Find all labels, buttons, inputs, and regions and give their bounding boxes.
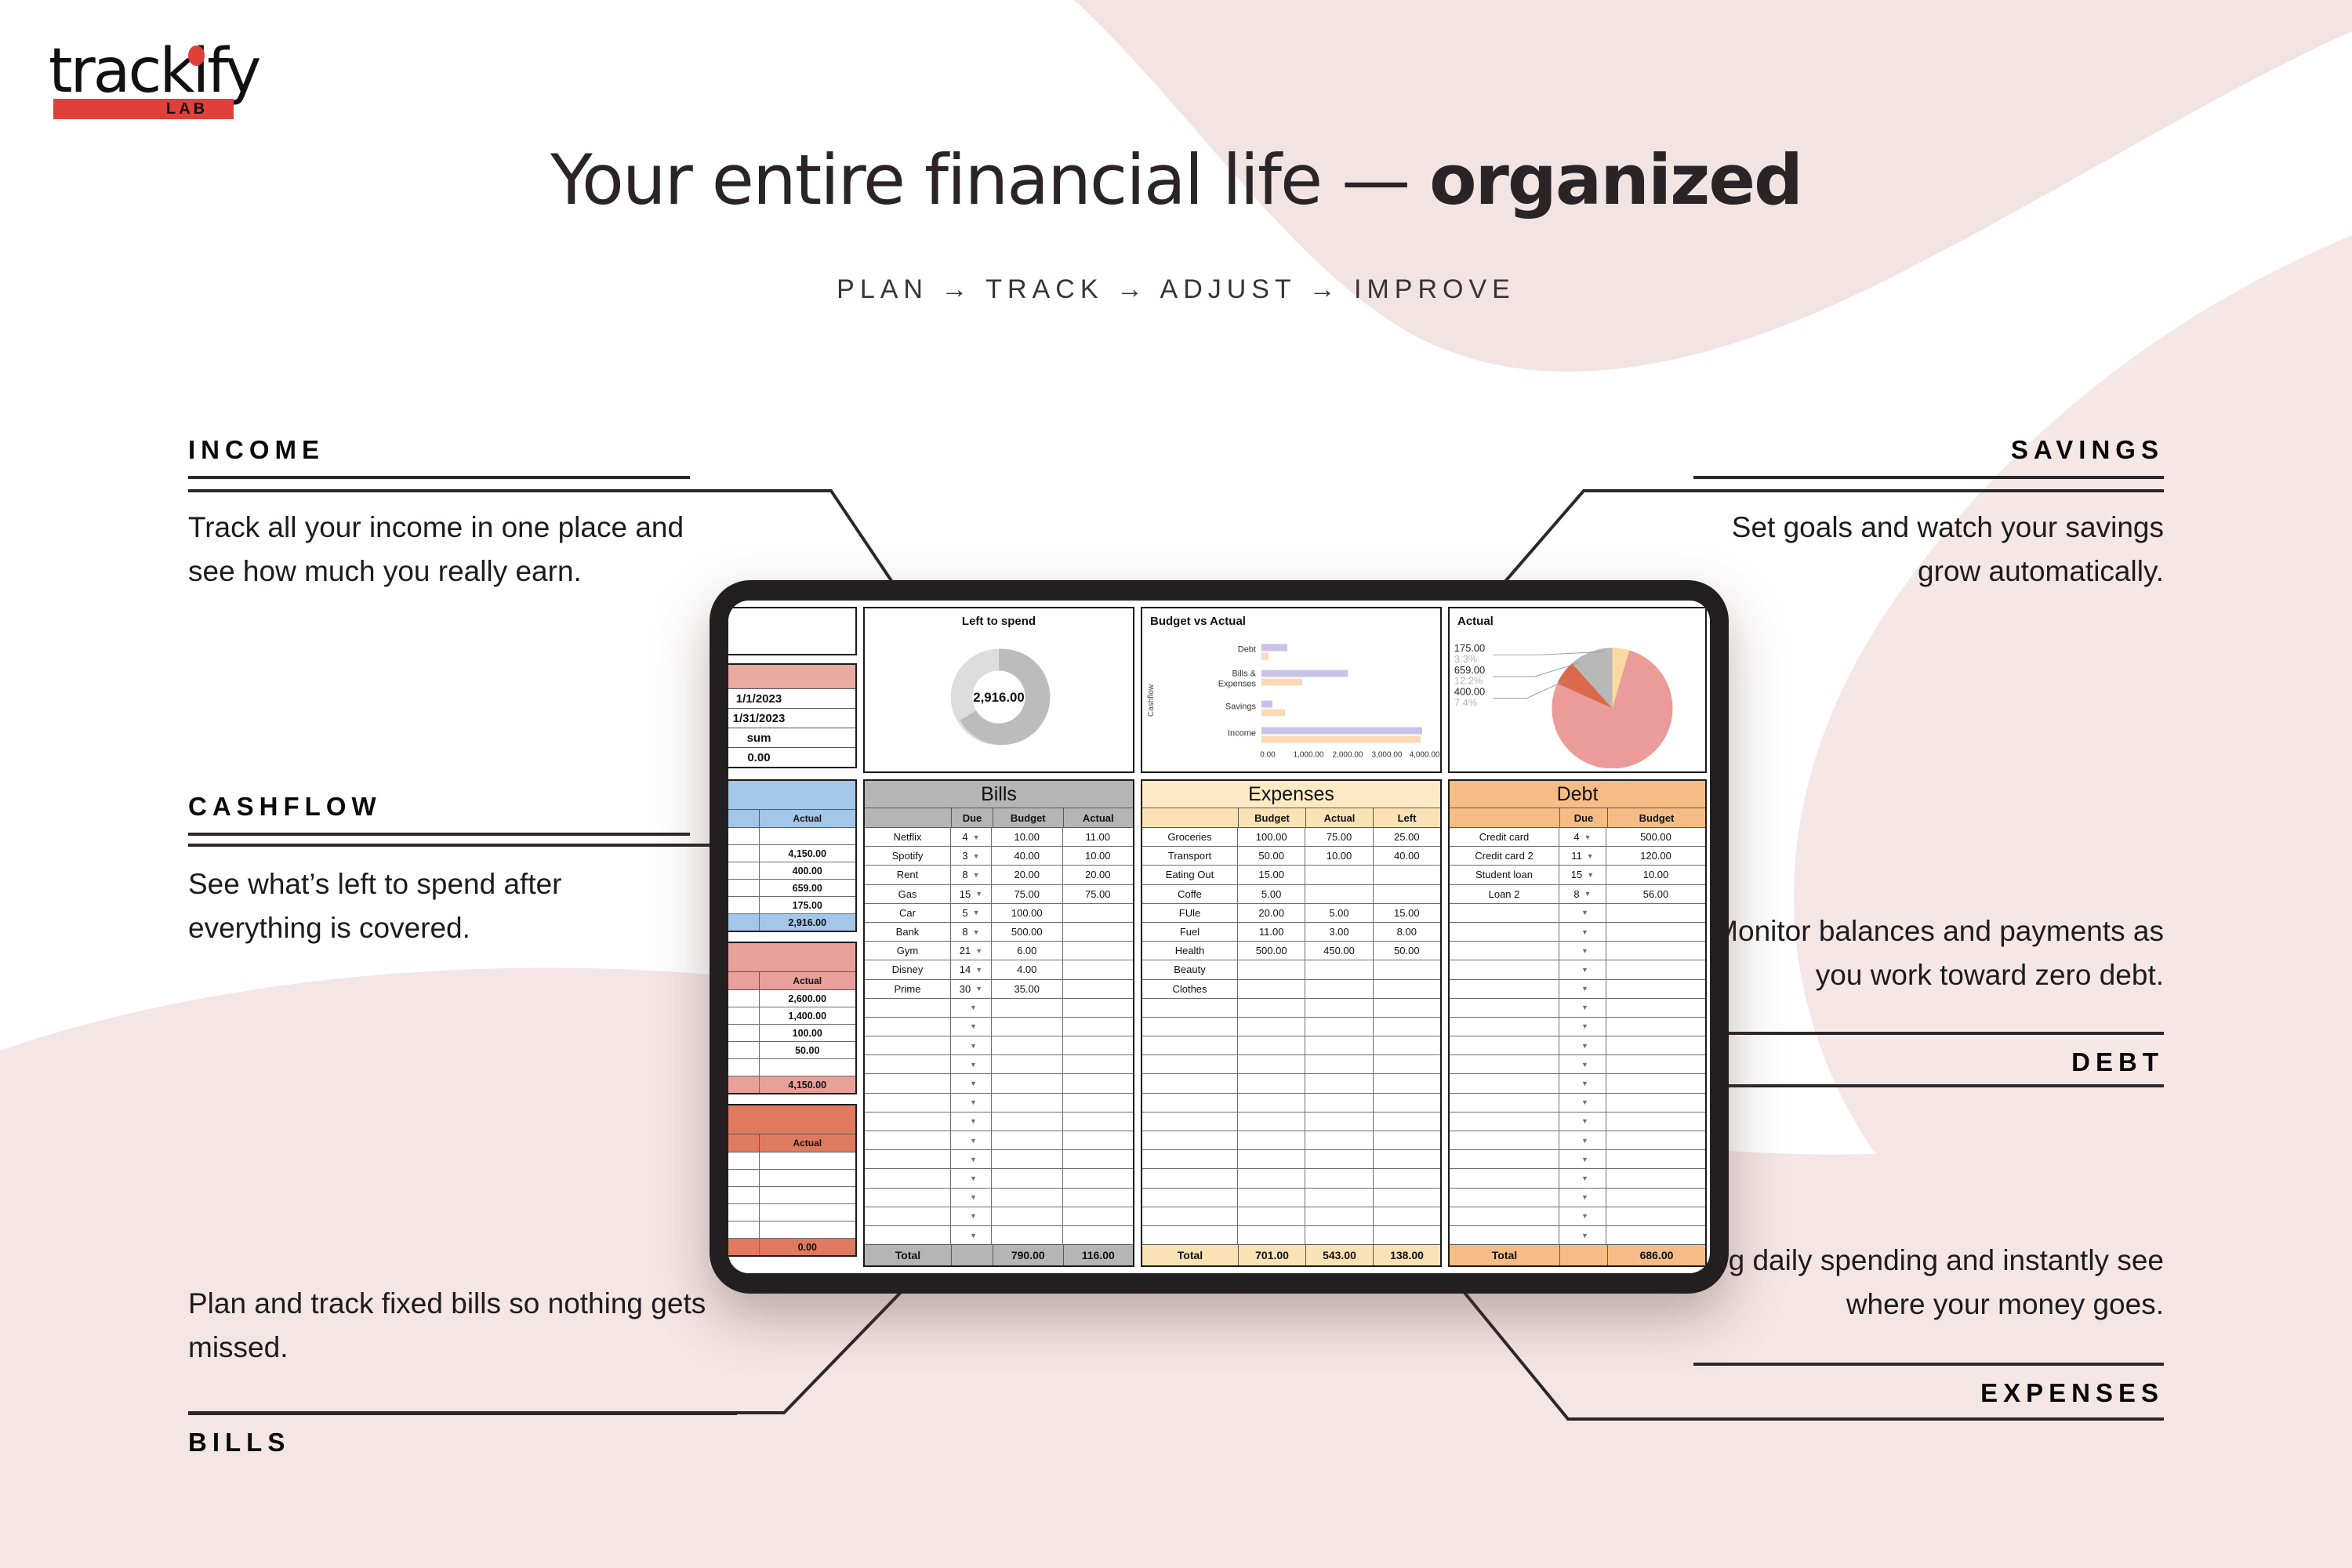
cell[interactable]: .00 (728, 828, 760, 844)
cell[interactable] (992, 999, 1063, 1017)
cell[interactable]: ▼ (1559, 1131, 1606, 1149)
cell[interactable] (1238, 1189, 1305, 1207)
cell[interactable] (865, 1226, 951, 1244)
chevron-down-icon[interactable]: ▼ (1581, 1080, 1588, 1087)
chevron-down-icon[interactable]: ▼ (1584, 833, 1592, 841)
cell[interactable]: 75.00 (1063, 885, 1134, 903)
cell[interactable]: 4.00 (992, 960, 1063, 978)
cell[interactable]: 56.00 (1606, 885, 1705, 903)
table-row[interactable]: ▼ (865, 1094, 1133, 1112)
cell[interactable] (760, 1187, 856, 1203)
table-row[interactable]: ▼ (1450, 1150, 1705, 1169)
table-row[interactable]: Prime30▼35.00 (865, 980, 1133, 999)
cell[interactable] (1305, 1036, 1373, 1054)
cell[interactable] (1450, 942, 1559, 960)
cell[interactable]: 659.00 (760, 880, 856, 896)
chevron-down-icon[interactable]: ▼ (1581, 1212, 1588, 1220)
cell[interactable]: ▼ (1559, 1094, 1606, 1112)
cell[interactable] (865, 1169, 951, 1187)
cell[interactable]: ▼ (951, 1074, 992, 1092)
cell[interactable] (1063, 923, 1134, 941)
chevron-down-icon[interactable]: ▼ (1581, 1193, 1588, 1201)
table-row[interactable]: Spotify3▼40.0010.00 (865, 847, 1133, 866)
cell[interactable] (1238, 980, 1305, 998)
cell[interactable] (1063, 1074, 1134, 1092)
cell[interactable]: Rent (865, 866, 951, 884)
cell[interactable] (1063, 1018, 1134, 1036)
cell[interactable]: 20.00 (1063, 866, 1134, 884)
cell[interactable] (1374, 999, 1440, 1017)
table-row[interactable]: Eating Out15.00 (1142, 866, 1440, 884)
spreadsheet-screen[interactable]: uary rview 1/1/2023 1/31/2023 sum 0.00 L… (728, 601, 1710, 1273)
cell[interactable]: 50.00 (1374, 942, 1440, 960)
cell[interactable] (1238, 1112, 1305, 1131)
cell[interactable]: 5▼ (951, 904, 992, 922)
cell[interactable]: ▼ (1559, 1112, 1606, 1131)
cell[interactable] (1063, 904, 1134, 922)
cell[interactable] (1142, 1207, 1238, 1225)
cell[interactable] (1606, 980, 1705, 998)
cell[interactable] (1238, 1036, 1305, 1054)
cell[interactable] (1374, 1150, 1440, 1168)
cell[interactable] (1238, 1207, 1305, 1225)
cell[interactable] (1606, 960, 1705, 978)
cell[interactable]: ▼ (951, 1189, 992, 1207)
left-to-spend-chart[interactable]: Left to spend 2,916.00 (863, 607, 1134, 773)
table-row[interactable]: ▼ (1450, 1055, 1705, 1074)
cell[interactable]: 500.00 (992, 923, 1063, 941)
chevron-down-icon[interactable]: ▼ (975, 985, 982, 993)
cell[interactable] (1606, 1150, 1705, 1168)
cell[interactable] (1305, 1169, 1373, 1187)
chevron-down-icon[interactable]: ▼ (1581, 947, 1588, 955)
chevron-down-icon[interactable]: ▼ (1581, 1156, 1588, 1163)
cell[interactable] (1374, 1094, 1440, 1112)
cell[interactable] (1305, 960, 1373, 978)
cell[interactable]: Clothes (1142, 980, 1238, 998)
table-row[interactable]: ▼ (865, 1189, 1133, 1207)
cell[interactable] (1142, 1112, 1238, 1131)
cell[interactable] (1374, 1207, 1440, 1225)
table-row[interactable]: Fuel11.003.008.00 (1142, 923, 1440, 942)
chevron-down-icon[interactable]: ▼ (1581, 1174, 1588, 1182)
cell[interactable] (1305, 999, 1373, 1017)
cell[interactable]: Student loan (1450, 866, 1559, 884)
cell[interactable] (1450, 1169, 1559, 1187)
table-row[interactable]: Transport50.0010.0040.00 (1142, 847, 1440, 866)
table-row[interactable]: ▼ (1450, 1094, 1705, 1112)
cell[interactable] (1305, 1189, 1373, 1207)
cell[interactable]: 6.00 (992, 942, 1063, 960)
cell[interactable] (1142, 1189, 1238, 1207)
table-row[interactable]: ▼ (1450, 980, 1705, 999)
chevron-down-icon[interactable]: ▼ (1581, 1117, 1588, 1125)
cell[interactable] (1374, 1036, 1440, 1054)
cell[interactable]: Spotify (865, 847, 951, 865)
chevron-down-icon[interactable]: ▼ (973, 852, 980, 860)
chevron-down-icon[interactable]: ▼ (970, 1137, 977, 1145)
table-row[interactable]: ▼ (865, 1207, 1133, 1226)
cell[interactable] (992, 1226, 1063, 1244)
table-row[interactable]: Credit card4▼500.00 (1450, 828, 1705, 847)
cell[interactable] (1238, 999, 1305, 1017)
table-row[interactable]: ▼ (865, 1074, 1133, 1093)
cell[interactable] (1450, 1226, 1559, 1244)
cell[interactable] (1450, 1074, 1559, 1092)
table-row[interactable]: ▼ (865, 1226, 1133, 1244)
chevron-down-icon[interactable]: ▼ (975, 966, 982, 974)
cell[interactable]: 5.00 (1305, 904, 1373, 922)
cell[interactable]: Health (1142, 942, 1238, 960)
cell[interactable]: ▼ (951, 999, 992, 1017)
table-row[interactable]: ▼ (865, 1018, 1133, 1036)
chevron-down-icon[interactable]: ▼ (1581, 1137, 1588, 1145)
cell[interactable]: 20.00 (992, 866, 1063, 884)
bills-rows-container[interactable]: Netflix4▼10.0011.00Spotify3▼40.0010.00Re… (865, 828, 1133, 1244)
cell[interactable]: 25.00 (1374, 828, 1440, 846)
cell[interactable]: ▼ (1559, 1189, 1606, 1207)
cell[interactable] (1238, 1169, 1305, 1187)
cell[interactable] (760, 1170, 856, 1186)
cell[interactable] (728, 1187, 760, 1203)
cell[interactable] (1606, 1055, 1705, 1073)
cell[interactable] (992, 1055, 1063, 1073)
chevron-down-icon[interactable]: ▼ (973, 909, 980, 916)
cell[interactable]: ▼ (951, 1131, 992, 1149)
cell[interactable]: 14▼ (951, 960, 992, 978)
cell[interactable] (1305, 1055, 1373, 1073)
cell[interactable] (1238, 960, 1305, 978)
cell[interactable] (760, 1059, 856, 1076)
cell[interactable] (1238, 1055, 1305, 1073)
cell[interactable] (992, 1169, 1063, 1187)
cell[interactable] (865, 1150, 951, 1168)
cell[interactable]: ▼ (951, 1226, 992, 1244)
cell[interactable] (1374, 960, 1440, 978)
cell[interactable]: 100.00 (1238, 828, 1305, 846)
actual-pie-chart[interactable]: Actual 175.00 3.3% 659.00 12.2% (1448, 607, 1707, 773)
cell[interactable]: 15▼ (1559, 866, 1606, 884)
chevron-down-icon[interactable]: ▼ (973, 871, 980, 879)
cell[interactable] (865, 1131, 951, 1149)
cell[interactable]: 4▼ (1559, 828, 1606, 846)
overview-table[interactable]: rview 1/1/2023 1/31/2023 sum 0.00 (728, 663, 857, 768)
cell[interactable] (1450, 1207, 1559, 1225)
cell[interactable] (1063, 1189, 1134, 1207)
cell[interactable] (1063, 1036, 1134, 1054)
cell[interactable] (1063, 1055, 1134, 1073)
cell[interactable] (1238, 1226, 1305, 1244)
chevron-down-icon[interactable]: ▼ (1581, 966, 1588, 974)
table-row[interactable]: Health500.00450.0050.00 (1142, 942, 1440, 960)
chevron-down-icon[interactable]: ▼ (970, 1156, 977, 1163)
expenses-table[interactable]: Expenses Budget Actual Left Groceries100… (1141, 779, 1442, 1267)
cell[interactable]: 2,600.00 (760, 990, 856, 1007)
table-row[interactable]: Credit card 211▼120.00 (1450, 847, 1705, 866)
cell[interactable] (1374, 866, 1440, 884)
table-row[interactable]: FUle20.005.0015.00 (1142, 904, 1440, 923)
cell[interactable] (728, 1059, 760, 1076)
cell[interactable] (1142, 1074, 1238, 1092)
cell[interactable] (1063, 960, 1134, 978)
cell[interactable] (1450, 1131, 1559, 1149)
table-row[interactable]: Bank8▼500.00 (865, 923, 1133, 942)
income-table[interactable]: ome dget Actual 00.002,600.00 00.001,400… (728, 942, 857, 1094)
cell[interactable]: FUle (1142, 904, 1238, 922)
cell[interactable]: ▼ (951, 1150, 992, 1168)
cell[interactable] (1238, 1074, 1305, 1092)
table-row[interactable] (1142, 1131, 1440, 1150)
cell[interactable] (1374, 885, 1440, 903)
cell[interactable] (1142, 1150, 1238, 1168)
cell[interactable]: Netflix (865, 828, 951, 846)
cell[interactable]: Coffe (1142, 885, 1238, 903)
table-row[interactable]: ▼ (1450, 1074, 1705, 1093)
chevron-down-icon[interactable]: ▼ (970, 1117, 977, 1125)
cell[interactable]: ▼ (951, 1055, 992, 1073)
cell[interactable] (1606, 942, 1705, 960)
table-row[interactable]: Beauty (1142, 960, 1440, 979)
chevron-down-icon[interactable]: ▼ (970, 1174, 977, 1182)
table-row[interactable]: ▼ (865, 1169, 1133, 1188)
table-row[interactable] (1142, 1074, 1440, 1093)
cell[interactable] (992, 1074, 1063, 1092)
table-row[interactable]: Groceries100.0075.0025.00 (1142, 828, 1440, 847)
table-row[interactable]: Coffe5.00 (1142, 885, 1440, 904)
table-row[interactable] (1142, 999, 1440, 1018)
cell[interactable] (1606, 1018, 1705, 1036)
chevron-down-icon[interactable]: ▼ (970, 1098, 977, 1106)
cell[interactable] (1142, 1036, 1238, 1054)
cell[interactable] (1450, 960, 1559, 978)
cell[interactable] (1606, 923, 1705, 941)
cell[interactable]: ▼ (1559, 1150, 1606, 1168)
cell[interactable] (1063, 1169, 1134, 1187)
table-row[interactable]: Clothes (1142, 980, 1440, 999)
table-row[interactable]: ▼ (1450, 923, 1705, 942)
chevron-down-icon[interactable]: ▼ (1587, 852, 1594, 860)
cell[interactable] (1450, 999, 1559, 1017)
cell[interactable] (1142, 1226, 1238, 1244)
cell[interactable]: Beauty (1142, 960, 1238, 978)
table-row[interactable] (1142, 1189, 1440, 1207)
table-row[interactable]: Student loan15▼10.00 (1450, 866, 1705, 884)
cell[interactable] (992, 1018, 1063, 1036)
cell[interactable]: Groceries (1142, 828, 1238, 846)
table-row[interactable] (1142, 1094, 1440, 1112)
cell[interactable] (1374, 980, 1440, 998)
cell[interactable] (1305, 1226, 1373, 1244)
cell[interactable]: ▼ (1559, 980, 1606, 998)
table-row[interactable]: ▼ (1450, 960, 1705, 979)
cell[interactable] (1374, 1074, 1440, 1092)
cell[interactable]: 11.00 (1063, 828, 1134, 846)
cell[interactable]: 11▼ (1559, 847, 1606, 865)
chevron-down-icon[interactable]: ▼ (1584, 890, 1592, 898)
cell[interactable] (865, 1055, 951, 1073)
cell[interactable]: 30▼ (951, 980, 992, 998)
cell[interactable]: 8▼ (951, 866, 992, 884)
cell[interactable] (760, 1152, 856, 1169)
cell[interactable]: 100.00 (992, 904, 1063, 922)
cell[interactable]: 50.00 (1238, 847, 1305, 865)
cell[interactable]: ▼ (951, 1112, 992, 1131)
cell[interactable] (1063, 1094, 1134, 1112)
cell[interactable]: 8▼ (1559, 885, 1606, 903)
chevron-down-icon[interactable]: ▼ (1587, 871, 1594, 879)
cell[interactable] (1063, 999, 1134, 1017)
cell[interactable]: 50.00 (760, 1042, 856, 1058)
cell[interactable] (1606, 1207, 1705, 1225)
cell[interactable] (1063, 942, 1134, 960)
cell[interactable]: Gym (865, 942, 951, 960)
cell[interactable] (1142, 999, 1238, 1017)
cell[interactable]: 450.00 (1305, 942, 1373, 960)
cell[interactable]: ▼ (1559, 1018, 1606, 1036)
cell[interactable] (1305, 1131, 1373, 1149)
cell[interactable] (1305, 1112, 1373, 1131)
cell[interactable]: ▼ (951, 1169, 992, 1187)
cell[interactable] (1238, 1018, 1305, 1036)
cell[interactable] (992, 1207, 1063, 1225)
cell[interactable]: 10.00 (992, 828, 1063, 846)
cell[interactable] (1238, 1131, 1305, 1149)
cell[interactable]: Credit card 2 (1450, 847, 1559, 865)
cell[interactable] (1450, 1055, 1559, 1073)
cell[interactable] (1305, 980, 1373, 998)
cell[interactable]: ▼ (1559, 1226, 1606, 1244)
cell[interactable]: 175.00 (760, 897, 856, 913)
cell[interactable]: 20.00 (1238, 904, 1305, 922)
chevron-down-icon[interactable]: ▼ (975, 890, 982, 898)
cell[interactable] (1063, 1150, 1134, 1168)
cell[interactable] (728, 1204, 760, 1221)
cell[interactable]: ▼ (1559, 1055, 1606, 1073)
chevron-down-icon[interactable]: ▼ (1581, 1232, 1588, 1240)
cell[interactable] (1238, 1094, 1305, 1112)
cell[interactable] (1063, 1226, 1134, 1244)
cell[interactable] (1238, 1150, 1305, 1168)
cell[interactable] (1063, 1207, 1134, 1225)
cell[interactable] (1450, 1018, 1559, 1036)
table-row[interactable]: ▼ (865, 999, 1133, 1018)
cell[interactable] (865, 1189, 951, 1207)
cell[interactable] (992, 1094, 1063, 1112)
month-title-cell[interactable]: uary (728, 607, 857, 655)
cell[interactable] (760, 1221, 856, 1238)
cell[interactable]: Credit card (1450, 828, 1559, 846)
cell[interactable]: 75.00 (1305, 828, 1373, 846)
cell[interactable]: ▼ (1559, 999, 1606, 1017)
cell[interactable]: 500.00 (1238, 942, 1305, 960)
cell[interactable]: 4,150.00 (760, 845, 856, 862)
cell[interactable]: 00.00 (728, 1007, 760, 1024)
table-row[interactable] (1142, 1112, 1440, 1131)
cell[interactable] (1305, 885, 1373, 903)
cell[interactable]: ▼ (951, 1207, 992, 1225)
chevron-down-icon[interactable]: ▼ (1581, 909, 1588, 916)
cell[interactable]: Eating Out (1142, 866, 1238, 884)
chevron-down-icon[interactable]: ▼ (970, 1022, 977, 1030)
table-row[interactable]: ▼ (1450, 1131, 1705, 1150)
table-row[interactable]: ▼ (1450, 1018, 1705, 1036)
cell[interactable] (865, 1036, 951, 1054)
cell[interactable]: 10.00 (1305, 847, 1373, 865)
cell[interactable] (1063, 1131, 1134, 1149)
table-row[interactable]: ▼ (1450, 1189, 1705, 1207)
cell[interactable] (1606, 1189, 1705, 1207)
cell[interactable] (992, 1189, 1063, 1207)
table-row[interactable]: Car5▼100.00 (865, 904, 1133, 923)
table-row[interactable]: Gym21▼6.00 (865, 942, 1133, 960)
cell[interactable] (1450, 1150, 1559, 1168)
table-row[interactable]: ▼ (1450, 1169, 1705, 1188)
cell[interactable] (1374, 1131, 1440, 1149)
cell[interactable]: ▼ (1559, 1074, 1606, 1092)
chevron-down-icon[interactable]: ▼ (970, 1004, 977, 1011)
cell[interactable]: 10.00 (1063, 847, 1134, 865)
cell[interactable]: Fuel (1142, 923, 1238, 941)
cell[interactable] (865, 1094, 951, 1112)
chevron-down-icon[interactable]: ▼ (975, 947, 982, 955)
cell[interactable] (1606, 904, 1705, 922)
cell[interactable] (1374, 1018, 1440, 1036)
cell[interactable]: 0.00 (728, 1042, 760, 1058)
cell[interactable]: 3▼ (951, 847, 992, 865)
cell[interactable] (1450, 904, 1559, 922)
cell[interactable] (1142, 1094, 1238, 1112)
table-row[interactable]: Gas15▼75.0075.00 (865, 885, 1133, 904)
debt-rows-container[interactable]: Credit card4▼500.00Credit card 211▼120.0… (1450, 828, 1705, 1244)
chevron-down-icon[interactable]: ▼ (970, 1193, 977, 1201)
chevron-down-icon[interactable]: ▼ (1581, 1098, 1588, 1106)
cell[interactable]: Car (865, 904, 951, 922)
cell[interactable]: ▼ (1559, 904, 1606, 922)
cell[interactable] (1606, 1131, 1705, 1149)
table-row[interactable]: Rent8▼20.0020.00 (865, 866, 1133, 884)
cell[interactable] (865, 1112, 951, 1131)
cell[interactable] (1142, 1055, 1238, 1073)
table-row[interactable]: ▼ (865, 1055, 1133, 1074)
cell[interactable] (1374, 1226, 1440, 1244)
cell[interactable]: Transport (1142, 847, 1238, 865)
table-row[interactable] (1142, 1150, 1440, 1169)
cell[interactable] (1374, 1055, 1440, 1073)
cell[interactable]: 15.00 (1374, 904, 1440, 922)
table-row[interactable] (1142, 1036, 1440, 1055)
savings-table[interactable]: ings dget Actual 000.00 (728, 1104, 857, 1257)
cell[interactable]: ▼ (951, 1036, 992, 1054)
chevron-down-icon[interactable]: ▼ (970, 1080, 977, 1087)
cell[interactable]: ▼ (951, 1018, 992, 1036)
table-row[interactable]: ▼ (865, 1036, 1133, 1055)
cell[interactable] (1305, 1207, 1373, 1225)
cell[interactable] (1063, 980, 1134, 998)
table-row[interactable] (1142, 1207, 1440, 1226)
cell[interactable]: 40.00 (1374, 847, 1440, 865)
chevron-down-icon[interactable]: ▼ (970, 1212, 977, 1220)
cell[interactable] (992, 1131, 1063, 1149)
cell[interactable] (1142, 1018, 1238, 1036)
cell[interactable]: ▼ (1559, 923, 1606, 941)
budget-vs-actual-chart[interactable]: Budget vs Actual Cashflow Debt Bills & E… (1141, 607, 1442, 773)
cell[interactable]: 40.00 (992, 847, 1063, 865)
table-row[interactable] (1142, 1169, 1440, 1188)
cell[interactable] (1305, 866, 1373, 884)
chevron-down-icon[interactable]: ▼ (1581, 928, 1588, 936)
table-row[interactable]: ▼ (1450, 1036, 1705, 1055)
table-row[interactable]: ▼ (1450, 999, 1705, 1018)
